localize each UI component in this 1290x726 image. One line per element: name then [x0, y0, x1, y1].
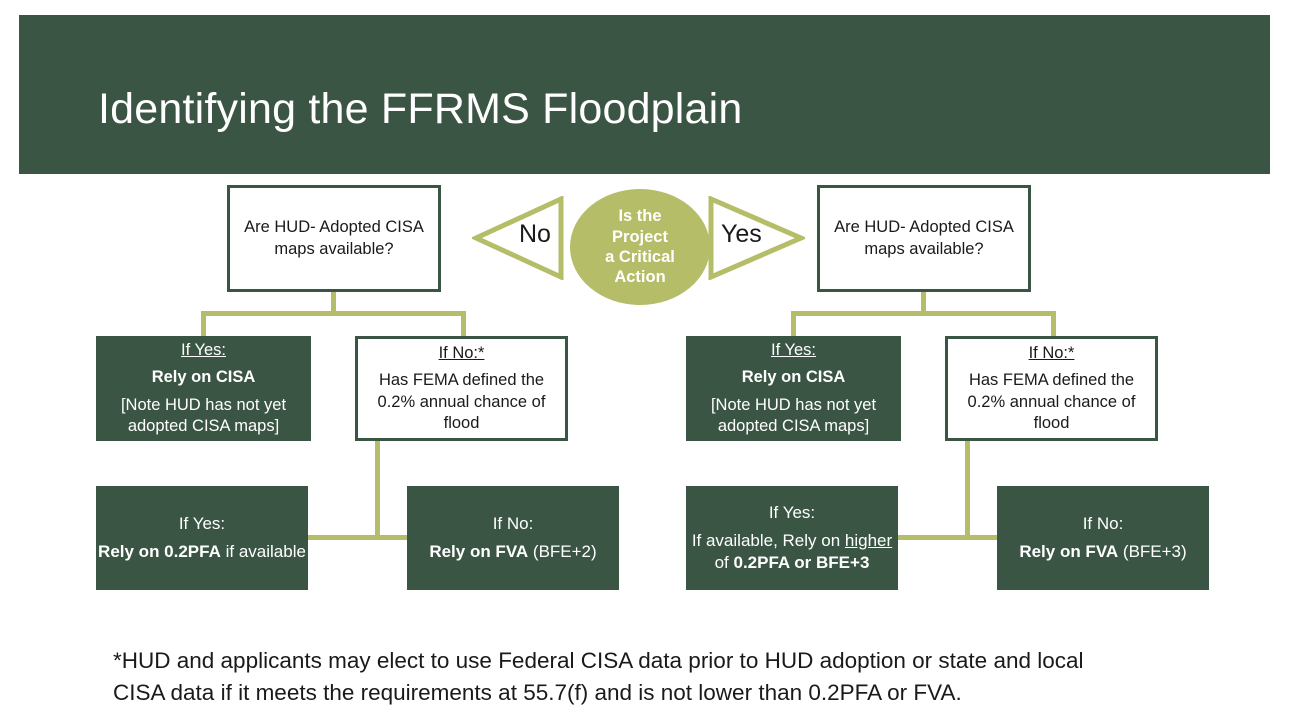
- footnote: *HUD and applicants may elect to use Fed…: [113, 645, 1093, 709]
- left-outcome-yes-heading: If Yes:: [96, 513, 308, 535]
- yes-arrow-label: Yes: [721, 222, 762, 247]
- right-outcome-yes-line3-pre: of: [715, 553, 734, 572]
- right-outcome-no-heading: If No:: [997, 513, 1209, 535]
- left-if-no-box[interactable]: If No:* Has FEMA defined the 0.2% annual…: [355, 336, 568, 441]
- left-question-box[interactable]: Are HUD- Adopted CISA maps available?: [227, 185, 441, 292]
- connector-right-bar: [791, 311, 1056, 316]
- left-outcome-yes-rest: if available: [221, 542, 306, 561]
- left-if-yes-bold: Rely on CISA: [96, 367, 311, 388]
- right-if-no-box[interactable]: If No:* Has FEMA defined the 0.2% annual…: [945, 336, 1158, 441]
- connector-right-outcome-bar: [890, 535, 1005, 540]
- left-outcome-no-bold: Rely on FVA: [429, 542, 528, 561]
- left-if-yes-heading: If Yes:: [96, 340, 311, 361]
- left-outcome-no-rest: (BFE+2): [528, 542, 597, 561]
- decision-line-4: Action: [614, 267, 665, 287]
- left-outcome-no-text: Rely on FVA (BFE+2): [407, 541, 619, 563]
- left-question-line2: maps available?: [230, 239, 438, 260]
- right-outcome-yes-line2-underline: higher: [845, 531, 892, 550]
- right-outcome-yes-box[interactable]: If Yes: If available, Rely on higher of …: [686, 486, 898, 590]
- right-outcome-yes-line3: of 0.2PFA or BFE+3: [686, 552, 898, 574]
- right-if-no-heading: If No:*: [948, 343, 1155, 364]
- footnote-line2: CISA data if it meets the requirements a…: [113, 677, 1093, 709]
- no-arrow: No: [472, 196, 564, 280]
- right-outcome-no-box[interactable]: If No: Rely on FVA (BFE+3): [997, 486, 1209, 590]
- left-if-no-heading: If No:*: [358, 343, 565, 364]
- left-outcome-no-box[interactable]: If No: Rely on FVA (BFE+2): [407, 486, 619, 590]
- footnote-line1: *HUD and applicants may elect to use Fed…: [113, 645, 1093, 677]
- page-title: Identifying the FFRMS Floodplain: [98, 88, 743, 131]
- left-if-no-line1: Has FEMA defined the: [358, 370, 565, 391]
- right-if-yes-heading: If Yes:: [686, 340, 901, 361]
- left-outcome-yes-box[interactable]: If Yes: Rely on 0.2PFA if available: [96, 486, 308, 590]
- left-if-no-line3: flood: [358, 413, 565, 434]
- left-outcome-no-heading: If No:: [407, 513, 619, 535]
- right-if-yes-note-line2: adopted CISA maps]: [686, 416, 901, 437]
- right-question-box[interactable]: Are HUD- Adopted CISA maps available?: [817, 185, 1031, 292]
- right-outcome-yes-line2: If available, Rely on higher: [686, 530, 898, 552]
- right-outcome-no-rest: (BFE+3): [1118, 542, 1187, 561]
- right-if-no-line1: Has FEMA defined the: [948, 370, 1155, 391]
- connector-left-to-ifno: [461, 311, 466, 336]
- right-outcome-yes-line3-bold: 0.2PFA or BFE+3: [734, 553, 870, 572]
- left-if-yes-note-line2: adopted CISA maps]: [96, 416, 311, 437]
- connector-left-outcome-bar: [300, 535, 415, 540]
- right-outcome-yes-line2-pre: If available, Rely on: [692, 531, 845, 550]
- left-if-yes-note-line1: [Note HUD has not yet: [96, 395, 311, 416]
- left-question-line1: Are HUD- Adopted CISA: [230, 217, 438, 238]
- decision-node-critical-action[interactable]: Is the Project a Critical Action: [570, 189, 710, 305]
- yes-arrow: Yes: [705, 196, 805, 280]
- left-outcome-yes-bold: Rely on 0.2PFA: [98, 542, 221, 561]
- right-if-yes-note-line1: [Note HUD has not yet: [686, 395, 901, 416]
- right-if-no-line3: flood: [948, 413, 1155, 434]
- right-if-yes-box[interactable]: If Yes: Rely on CISA [Note HUD has not y…: [686, 336, 901, 441]
- right-outcome-no-text: Rely on FVA (BFE+3): [997, 541, 1209, 563]
- right-question-line2: maps available?: [820, 239, 1028, 260]
- decision-line-3: a Critical: [605, 247, 675, 267]
- decision-line-2: Project: [612, 227, 668, 247]
- right-question-line1: Are HUD- Adopted CISA: [820, 217, 1028, 238]
- connector-left-to-ifyes: [201, 311, 206, 336]
- left-if-no-line2: 0.2% annual chance of: [358, 392, 565, 413]
- left-outcome-yes-text: Rely on 0.2PFA if available: [96, 541, 308, 563]
- connector-right-to-ifno: [1051, 311, 1056, 336]
- right-outcome-no-bold: Rely on FVA: [1019, 542, 1118, 561]
- connector-left-bar: [201, 311, 466, 316]
- no-arrow-label: No: [519, 222, 551, 247]
- connector-left-fema-stem: [375, 441, 380, 540]
- connector-right-to-ifyes: [791, 311, 796, 336]
- right-if-yes-bold: Rely on CISA: [686, 367, 901, 388]
- left-if-yes-box[interactable]: If Yes: Rely on CISA [Note HUD has not y…: [96, 336, 311, 441]
- right-if-no-line2: 0.2% annual chance of: [948, 392, 1155, 413]
- right-outcome-yes-heading: If Yes:: [686, 502, 898, 524]
- decision-line-1: Is the: [618, 206, 661, 226]
- connector-right-fema-stem: [965, 441, 970, 540]
